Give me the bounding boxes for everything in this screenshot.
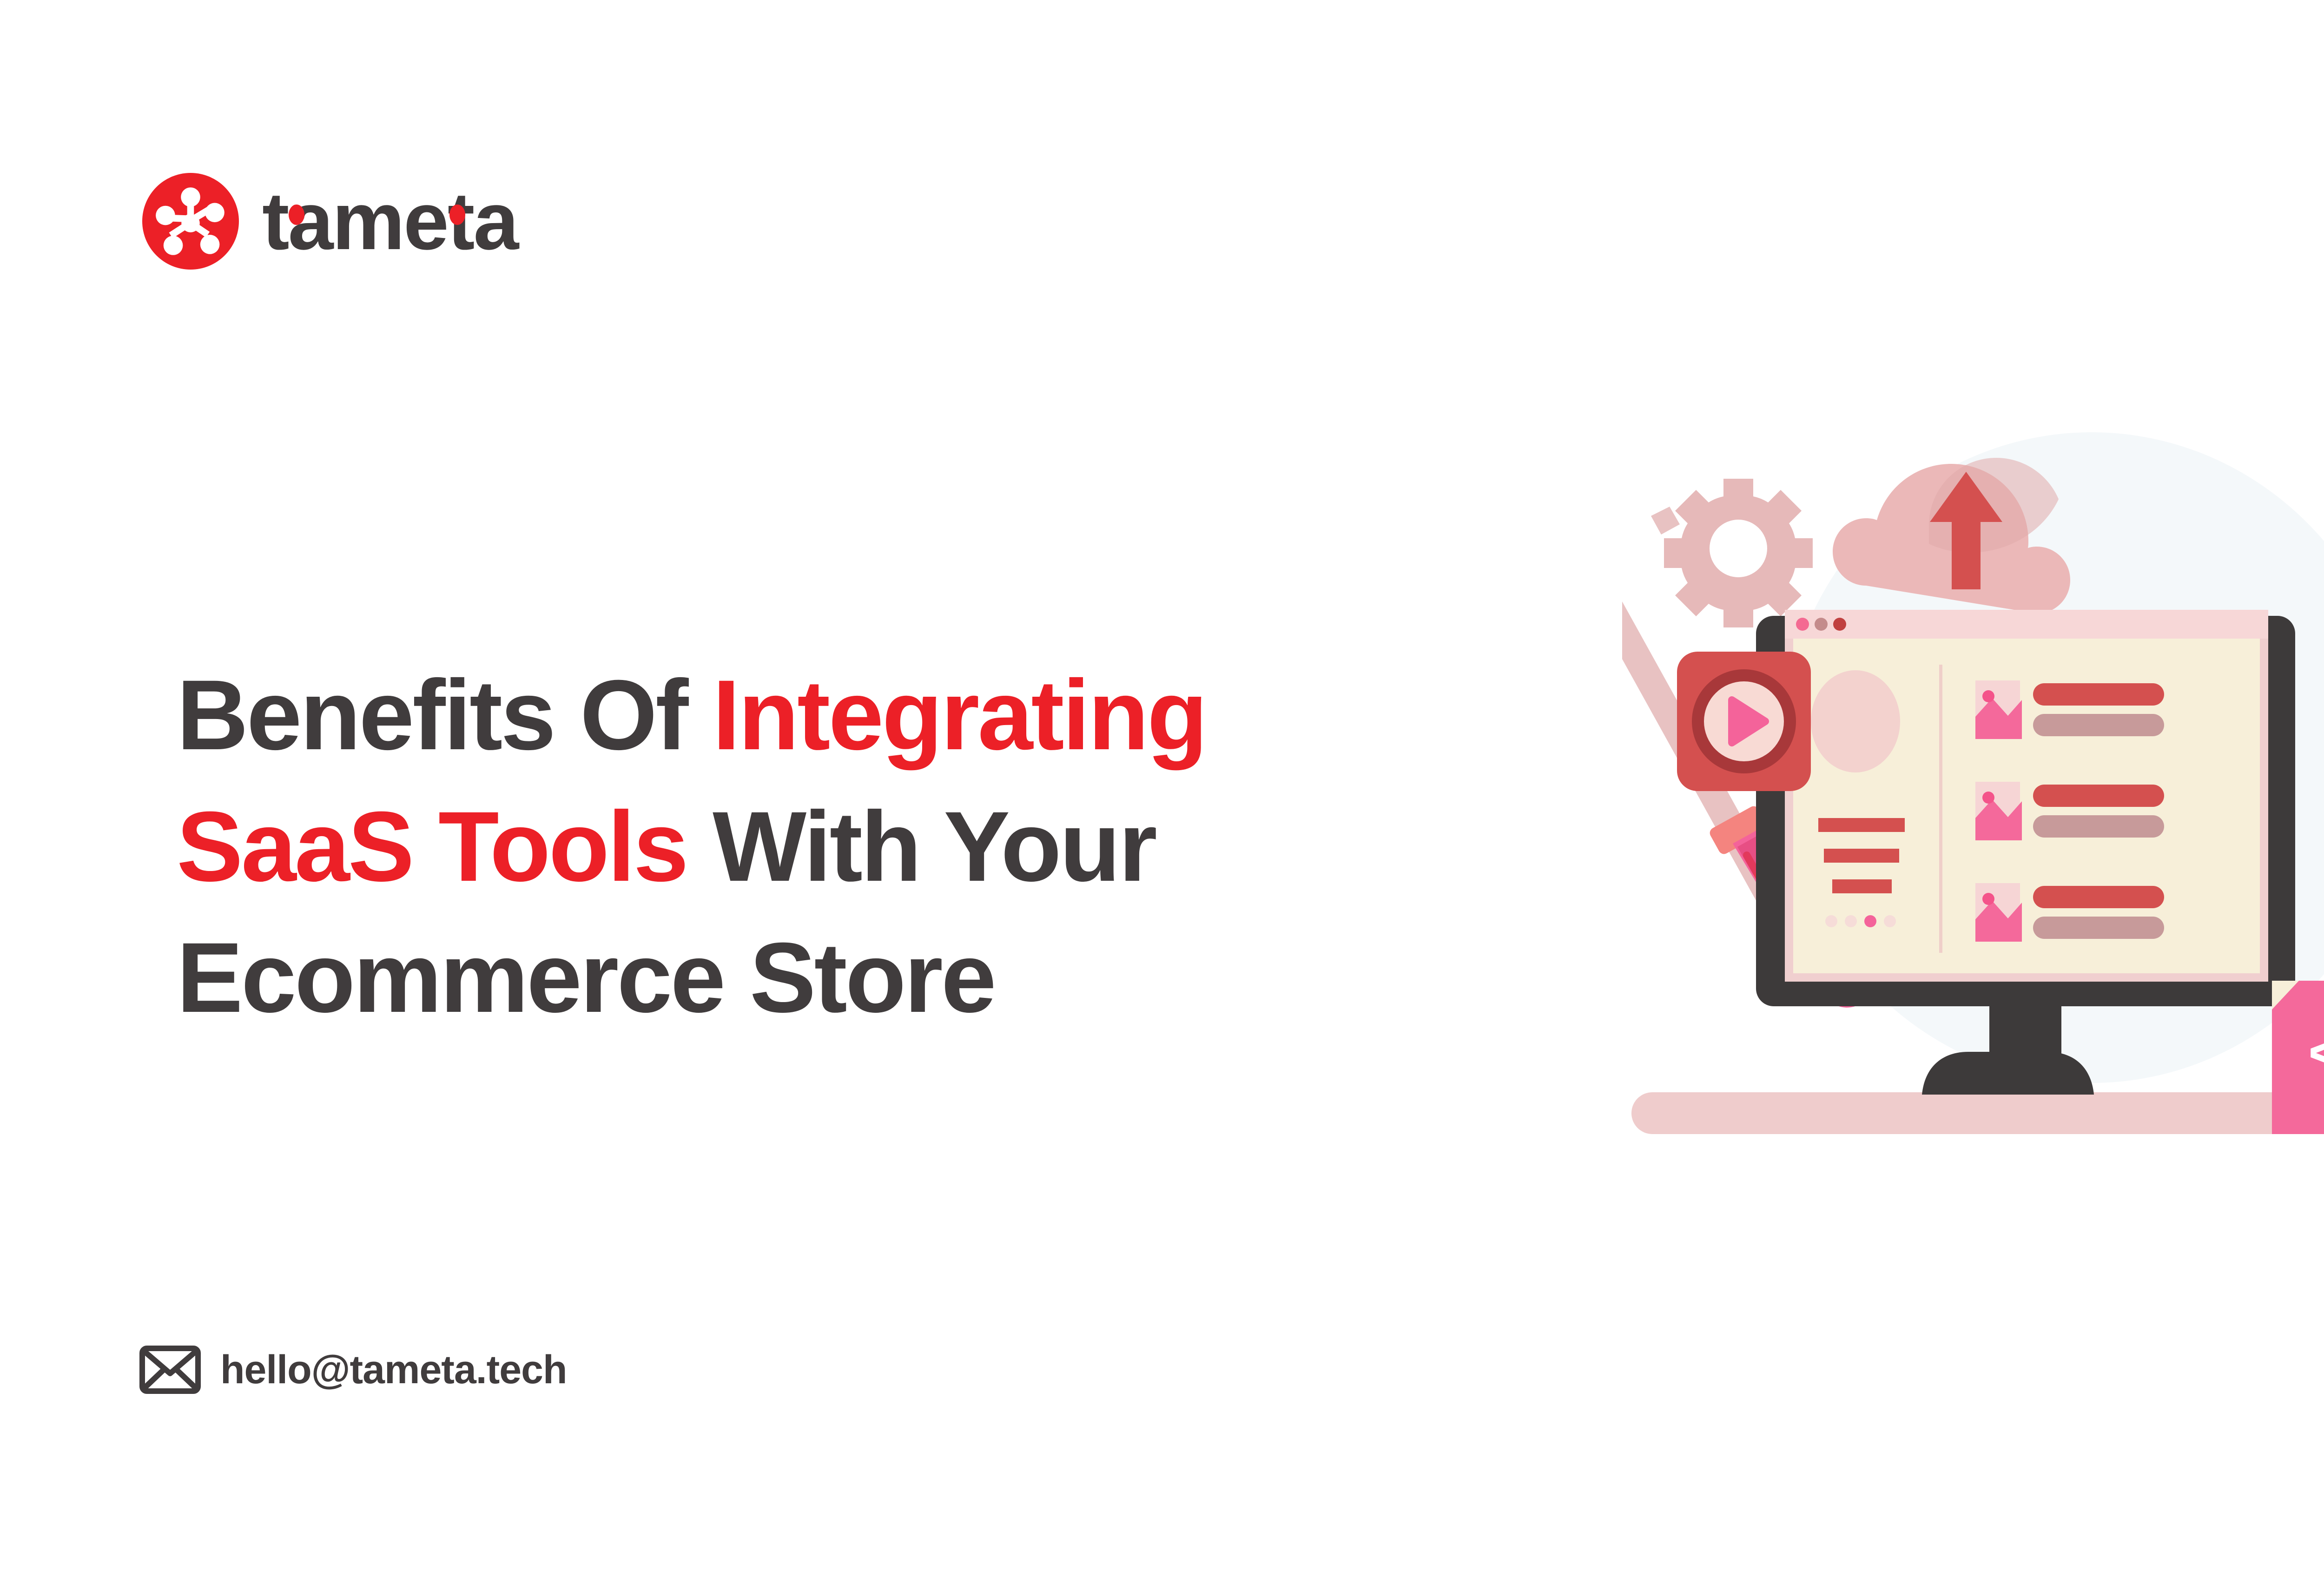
page-title: Benefits Of Integrating SaaS Tools With … — [177, 650, 1478, 1043]
left-text-bar-1 — [1818, 818, 1905, 832]
ground-bar — [1631, 1092, 2324, 1134]
left-text-bar-2 — [1824, 849, 1899, 863]
titlebar-dot-1 — [1796, 618, 1809, 631]
titlebar-dot-2 — [1815, 618, 1828, 631]
headline-line2-plain: With Your — [687, 791, 1155, 902]
contact-email-row[interactable]: hello@tameta.tech — [139, 1346, 567, 1394]
code-tag-icon: </> — [2272, 981, 2324, 1134]
avatar-placeholder — [1811, 670, 1900, 772]
brand-lockup[interactable]: tameta — [142, 173, 517, 270]
screen-titlebar — [1785, 610, 2268, 639]
left-text-bar-3 — [1832, 879, 1892, 893]
saas-integration-illustration: </> — [1622, 386, 2324, 1153]
headline-line1-plain: Benefits Of — [177, 660, 713, 771]
network-node-icon — [142, 173, 239, 270]
monitor-foot — [1922, 1052, 2094, 1095]
headline-line3-plain: Ecommerce Store — [177, 922, 995, 1033]
brand-wordmark: tameta — [262, 180, 517, 262]
envelope-icon — [139, 1346, 201, 1394]
code-tag-glyph: </> — [2308, 1021, 2324, 1083]
contact-email-text: hello@tameta.tech — [220, 1350, 567, 1390]
brand-dot-one — [289, 205, 304, 225]
headline-line1-highlight: Integrating — [713, 660, 1206, 771]
play-button-icon — [1677, 652, 1811, 791]
headline-line2-highlight: SaaS Tools — [177, 791, 687, 902]
titlebar-dot-3 — [1833, 618, 1846, 631]
screen-divider — [1939, 665, 1942, 953]
brand-dot-two — [449, 205, 465, 225]
gear-icon-left — [1664, 479, 1813, 627]
